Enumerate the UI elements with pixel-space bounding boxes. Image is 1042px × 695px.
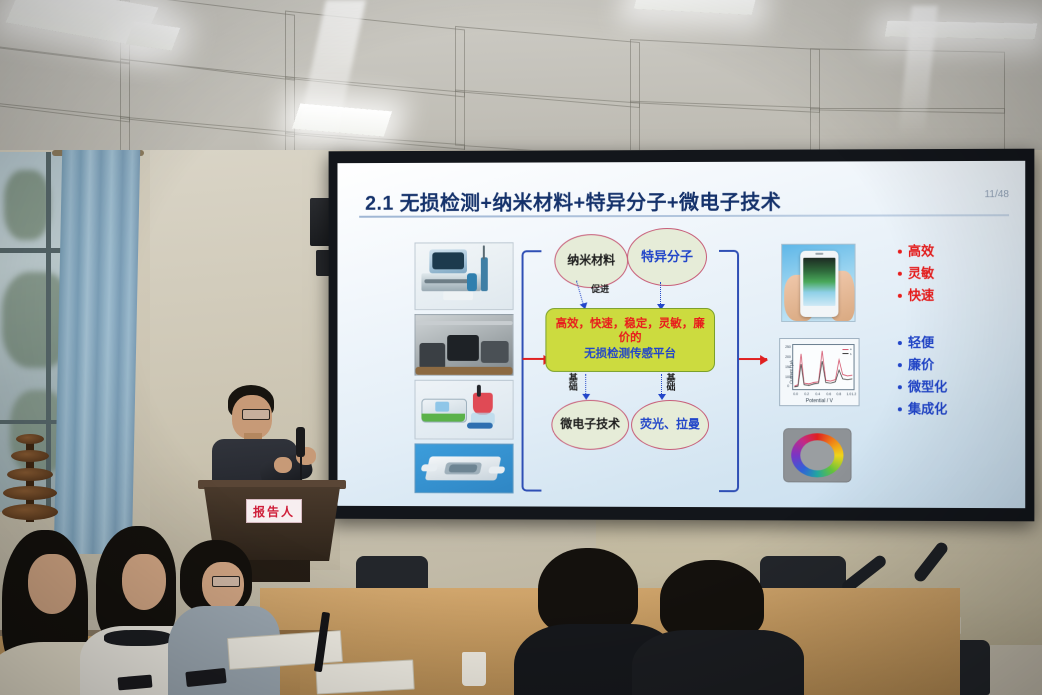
chart-ytick: 200 xyxy=(785,355,791,359)
slide-page-indicator: 11/48 xyxy=(984,189,1009,200)
slide: 2.1 无损检测+纳米材料+特异分子+微电子技术 11/48 xyxy=(337,161,1025,508)
photo-microfluidic-chip xyxy=(415,443,514,493)
projection-screen: 2.1 无损检测+纳米材料+特异分子+微电子技术 11/48 xyxy=(329,149,1035,522)
curtain xyxy=(54,150,140,554)
arrow-molecule-to-center xyxy=(660,282,661,304)
slide-title: 2.1 无损检测+纳米材料+特异分子+微电子技术 xyxy=(365,186,781,216)
app-item-integrated: 集成化 xyxy=(908,398,947,417)
chart-legend: a b xyxy=(843,347,852,356)
photo-electrochemical-workstation xyxy=(415,242,514,310)
center-platform-box: 高效，快速，稳定，灵敏，廉价的 无损检测传感平台 xyxy=(545,308,715,372)
chart-xtick: 0.8 xyxy=(836,392,841,396)
chart-ytick: 0 xyxy=(787,384,789,388)
bullet-dot xyxy=(898,294,902,298)
connector-label-promote: 促进 xyxy=(591,285,609,294)
cup xyxy=(462,652,486,686)
bullet-dot xyxy=(898,341,902,345)
center-box-blue-line: 无损检测传感平台 xyxy=(584,348,676,362)
app-item-fast: 快速 xyxy=(908,285,934,304)
chart-voltammogram: a b Current / μA Potential / V 0.0 0.2 0… xyxy=(779,338,859,406)
connector-label-basis-right: 基础 xyxy=(665,374,677,392)
app-item-miniaturized: 微型化 xyxy=(908,376,947,395)
arrow-center-to-micro xyxy=(585,374,586,394)
app-item-portable: 轻便 xyxy=(908,332,934,351)
podium-sign: 报告人 xyxy=(246,499,302,523)
microphone xyxy=(296,427,305,457)
chart-y-axis-label: Current / μA xyxy=(789,360,794,384)
photo-rainbow-ring xyxy=(783,428,851,482)
chart-xtick: 0.6 xyxy=(826,392,831,396)
notebook xyxy=(315,659,414,694)
bullet-dot xyxy=(898,272,902,276)
chart-xtick: 1.2 xyxy=(852,392,857,396)
bullet-dot xyxy=(898,250,902,254)
photo-lab-bench xyxy=(415,314,514,376)
photo-scene: 2.1 无损检测+纳米材料+特异分子+微电子技术 11/48 xyxy=(0,0,1042,695)
chart-xtick: 0.4 xyxy=(815,392,820,396)
podium-sign-text: 报告人 xyxy=(253,503,295,520)
bullet-dot xyxy=(898,407,902,411)
right-bracket xyxy=(719,250,739,492)
node-nanomaterial: 纳米材料 xyxy=(554,234,628,288)
chart-ytick: 250 xyxy=(785,345,791,349)
node-specific-molecule: 特异分子 xyxy=(627,228,707,286)
node-nanomaterial-label: 纳米材料 xyxy=(567,254,615,267)
audience-person xyxy=(640,560,795,695)
node-fluorescence-raman-label: 荧光、拉曼 xyxy=(640,418,700,432)
ceiling-light xyxy=(885,21,1038,40)
title-divider xyxy=(359,214,1009,218)
ceiling-light xyxy=(634,0,756,15)
left-bracket xyxy=(522,250,542,491)
node-fluorescence-raman: 荧光、拉曼 xyxy=(631,400,709,450)
chart-xtick: 0.0 xyxy=(793,392,798,396)
node-microelectronics: 微电子技术 xyxy=(551,400,629,450)
app-item-sensitive: 灵敏 xyxy=(908,263,934,282)
chart-ytick: 150 xyxy=(785,365,791,369)
ceiling xyxy=(0,0,1042,172)
arrow-center-to-fluorescence xyxy=(661,374,662,394)
bullet-dot xyxy=(898,385,902,389)
chart-ytick: 100 xyxy=(785,375,791,379)
app-item-low-cost: 廉价 xyxy=(908,354,934,373)
connector-label-basis-left: 基础 xyxy=(567,374,579,392)
right-red-arrow xyxy=(739,358,767,360)
photo-smartphone-readout xyxy=(781,244,855,322)
presenter-hand xyxy=(274,457,292,473)
chart-plot-area: a b xyxy=(792,344,854,390)
window-sill-ornament xyxy=(2,432,58,522)
photo-portable-detector xyxy=(415,380,514,440)
chart-xtick: 1.0 xyxy=(846,392,851,396)
center-box-red-line: 高效，快速，稳定，灵敏，廉价的 xyxy=(550,318,710,346)
chart-xtick: 0.2 xyxy=(804,392,809,396)
chart-x-axis-label: Potential / V xyxy=(780,398,858,404)
app-item-high-efficiency: 高效 xyxy=(908,241,934,260)
bullet-dot xyxy=(898,363,902,367)
presenter-glasses xyxy=(242,409,270,420)
node-specific-molecule-label: 特异分子 xyxy=(641,250,693,265)
node-microelectronics-label: 微电子技术 xyxy=(560,418,620,432)
